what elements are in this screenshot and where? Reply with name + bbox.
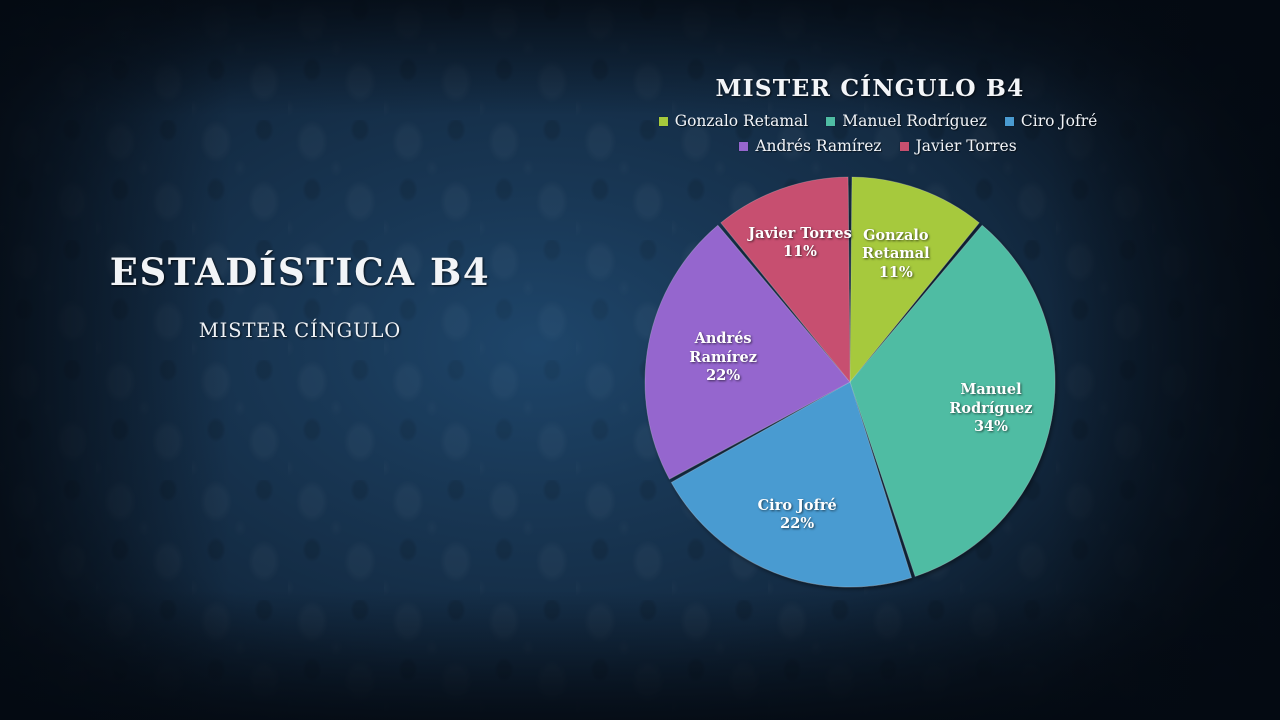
legend-swatch-icon <box>659 117 668 126</box>
legend-item-label: Ciro Jofré <box>1021 112 1097 130</box>
chart-legend: Gonzalo RetamalManuel RodríguezCiro Jofr… <box>618 112 1138 162</box>
pie-chart: GonzaloRetamal11%ManuelRodríguez34%Ciro … <box>635 167 1065 597</box>
legend-item-label: Gonzalo Retamal <box>675 112 809 130</box>
legend-item-label: Javier Torres <box>916 137 1017 155</box>
legend-item[interactable]: Manuel Rodríguez <box>826 112 987 130</box>
legend-item[interactable]: Ciro Jofré <box>1005 112 1097 130</box>
legend-swatch-icon <box>1005 117 1014 126</box>
legend-item[interactable]: Gonzalo Retamal <box>659 112 809 130</box>
page-title: ESTADÍSTICA B4 <box>40 252 560 293</box>
legend-item[interactable]: Javier Torres <box>900 137 1017 155</box>
legend-swatch-icon <box>900 142 909 151</box>
chart-title: MISTER CÍNGULO B4 <box>590 74 1150 102</box>
legend-item-label: Manuel Rodríguez <box>842 112 987 130</box>
page-subtitle: MISTER CÍNGULO <box>40 319 560 342</box>
legend-swatch-icon <box>739 142 748 151</box>
presentation-slide: ESTADÍSTICA B4 MISTER CÍNGULO MISTER CÍN… <box>0 0 1280 720</box>
legend-item[interactable]: Andrés Ramírez <box>739 137 881 155</box>
legend-swatch-icon <box>826 117 835 126</box>
title-block: ESTADÍSTICA B4 MISTER CÍNGULO <box>40 252 560 342</box>
chart-area: MISTER CÍNGULO B4 Gonzalo RetamalManuel … <box>590 62 1280 662</box>
pie-chart-svg <box>635 167 1065 597</box>
legend-item-label: Andrés Ramírez <box>755 137 881 155</box>
